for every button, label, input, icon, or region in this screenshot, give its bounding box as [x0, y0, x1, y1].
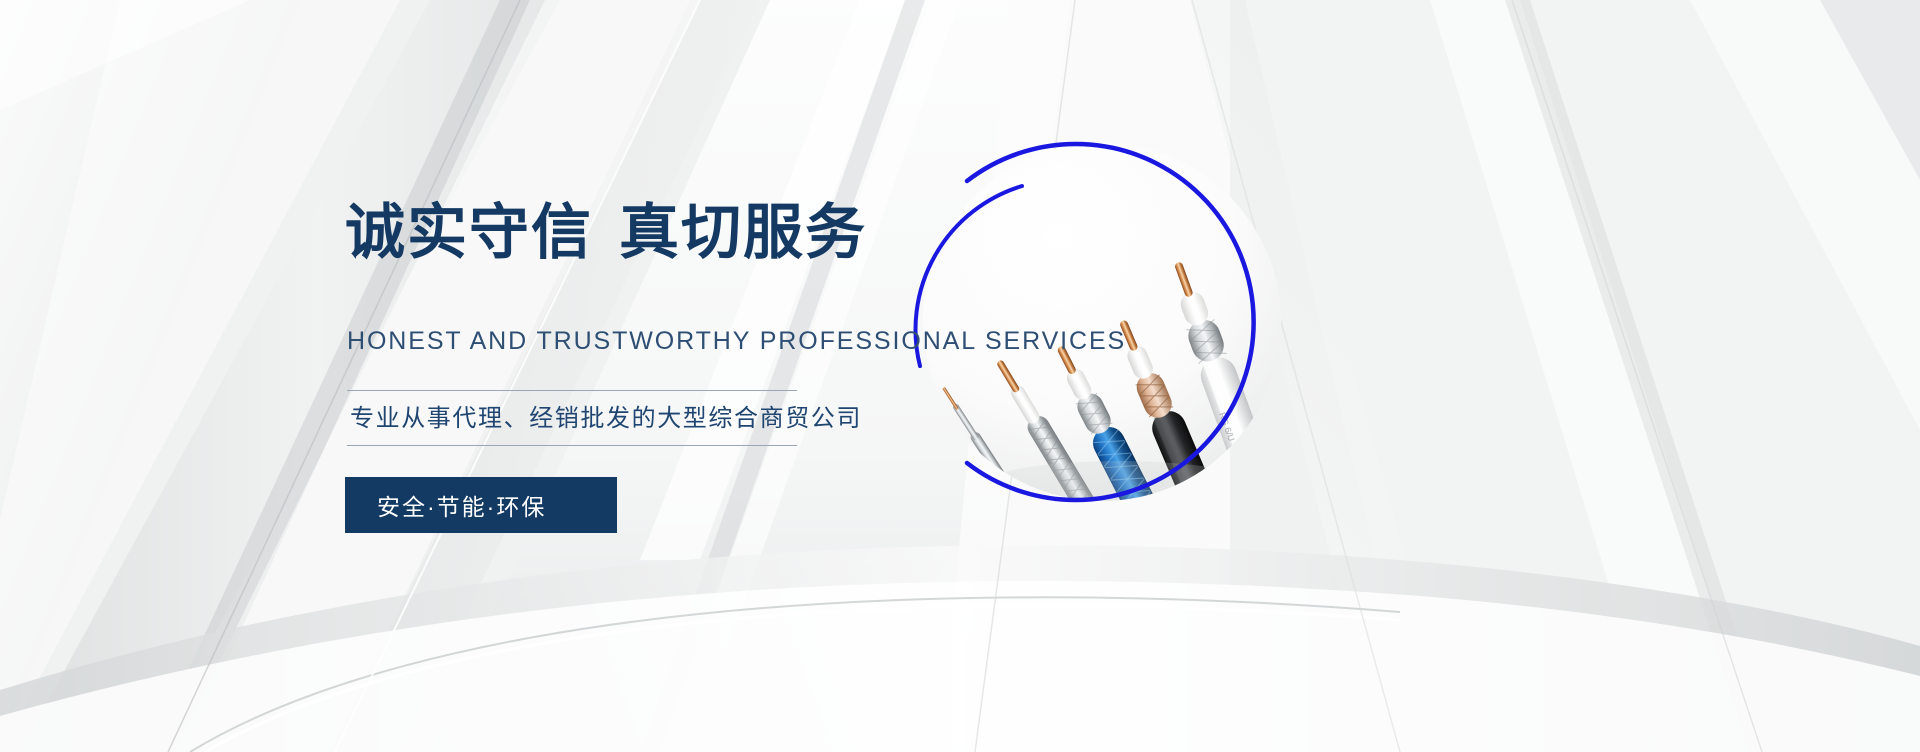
page-title: 诚实守信真切服务	[345, 202, 867, 264]
subtitle-chinese: 专业从事代理、经销批发的大型综合商贸公司	[350, 404, 862, 434]
hero-text-block: 诚实守信真切服务 HONEST AND TRUSTWORTHY PROFESSI…	[0, 0, 1920, 752]
divider-bottom	[347, 445, 797, 446]
subtitle-english: HONEST AND TRUSTWORTHY PROFESSIONAL SERV…	[347, 327, 1126, 355]
status-badge: 安全·节能·环保	[345, 477, 617, 533]
headline-part-2: 真切服务	[619, 199, 867, 266]
hero-banner: RG 6/U 75Ω	[0, 0, 1920, 752]
divider-top	[347, 390, 797, 391]
headline-part-1: 诚实守信	[345, 199, 593, 266]
badge-label: 安全·节能·环保	[377, 488, 546, 522]
